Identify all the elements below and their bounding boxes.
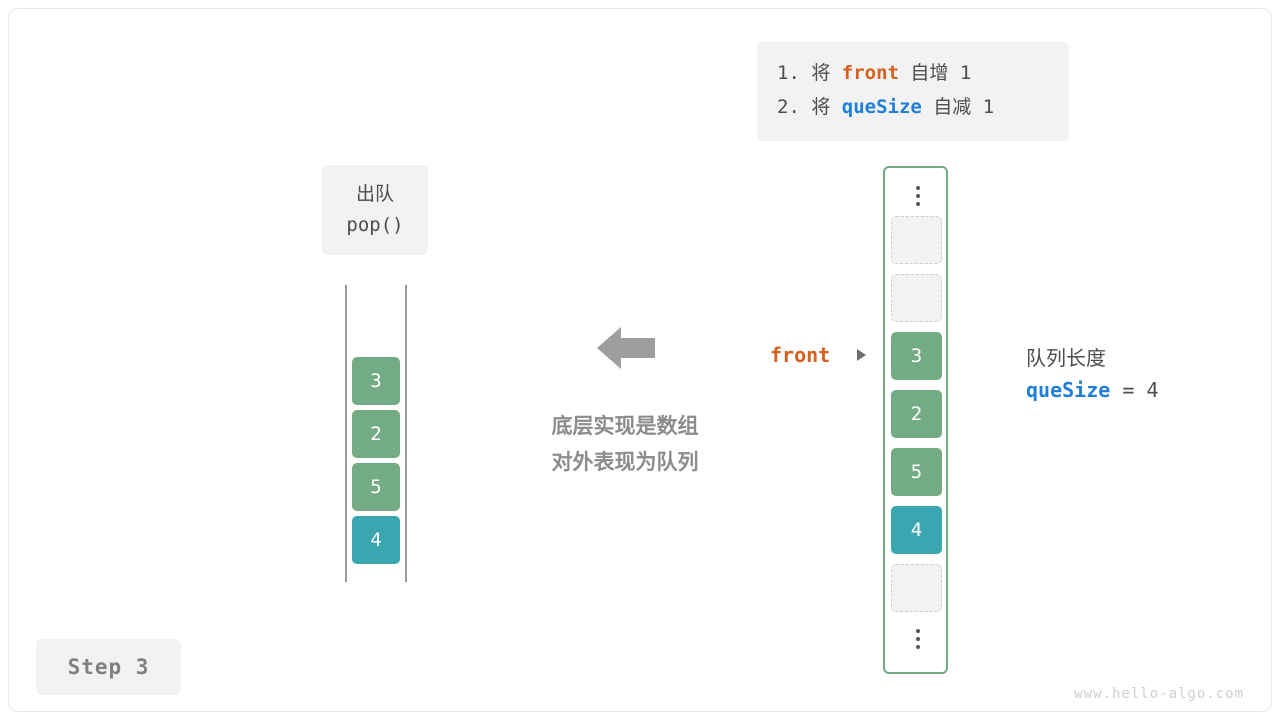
pop-operation-label: 出队 pop() (322, 165, 428, 255)
queue-cell: 4 (352, 516, 400, 564)
pop-label-line-1: 出队 (322, 179, 428, 210)
step-badge: Step 3 (36, 639, 181, 695)
instruction-line-1-code: front (842, 62, 899, 84)
quesize-operator: = (1122, 378, 1134, 402)
front-pointer-arrow-icon (857, 349, 866, 361)
instruction-callout: 1. 将 front 自增 1 2. 将 queSize 自减 1 (757, 42, 1069, 141)
instruction-line-1: 1. 将 front 自增 1 (777, 56, 1049, 90)
array-slot: 3 (891, 332, 942, 380)
queue-cell: 5 (352, 463, 400, 511)
queue-cell: 3 (352, 357, 400, 405)
center-caption: 底层实现是数组 对外表现为队列 (500, 408, 750, 480)
center-caption-line-1: 底层实现是数组 (500, 408, 750, 444)
array-top-ellipsis-icon (885, 182, 950, 210)
array-slot: 4 (891, 506, 942, 554)
array-bottom-ellipsis-icon (885, 625, 950, 653)
array-slot (891, 216, 942, 264)
center-caption-line-2: 对外表现为队列 (500, 444, 750, 480)
queue-length-expression: queSize = 4 (1026, 378, 1158, 402)
instruction-line-2: 2. 将 queSize 自减 1 (777, 90, 1049, 124)
instruction-line-1-prefix: 1. 将 (777, 62, 842, 84)
pop-label-line-2: pop() (322, 210, 428, 241)
queue-rail-right (405, 285, 407, 582)
instruction-line-2-suffix: 自减 1 (922, 96, 994, 118)
quesize-value: 4 (1146, 378, 1158, 402)
quesize-variable-name: queSize (1026, 378, 1110, 402)
diagram-canvas: 1. 将 front 自增 1 2. 将 queSize 自减 1 出队 pop… (0, 0, 1280, 720)
instruction-line-2-code: queSize (842, 96, 922, 118)
array-slot: 2 (891, 390, 942, 438)
instruction-line-1-suffix: 自增 1 (899, 62, 971, 84)
instruction-line-2-prefix: 2. 将 (777, 96, 842, 118)
array-slot (891, 564, 942, 612)
queue-cell: 2 (352, 410, 400, 458)
array-slot (891, 274, 942, 322)
quesize-equals (1110, 378, 1122, 402)
physical-array: 3 2 5 4 (883, 166, 948, 674)
watermark: www.hello-algo.com (1074, 686, 1244, 702)
left-arrow-icon (597, 325, 655, 371)
front-pointer-label: front (770, 343, 830, 367)
logical-queue: 3 2 5 4 (345, 285, 407, 582)
queue-length-title: 队列长度 (1026, 342, 1106, 371)
queue-rail-left (345, 285, 347, 582)
array-slot: 5 (891, 448, 942, 496)
step-badge-label: Step 3 (68, 655, 150, 679)
quesize-space (1134, 378, 1146, 402)
